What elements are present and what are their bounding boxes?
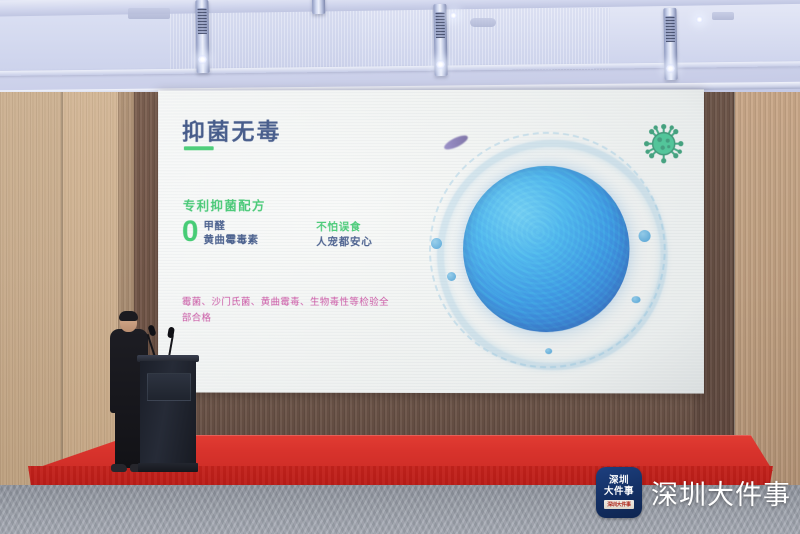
podium-base: [138, 463, 198, 472]
safety-claim-blue: 人宠都安心: [316, 235, 372, 250]
podium: [140, 355, 196, 473]
splash-droplet-4: [632, 296, 641, 303]
ceiling-vent-2: [470, 18, 496, 27]
wall-panel-6: [735, 92, 800, 492]
ceiling-panel-right: [610, 0, 800, 68]
fixture-grille-icon: [198, 8, 207, 34]
ceiling-downlight-3: [666, 64, 675, 73]
zero-value: 0: [182, 218, 199, 246]
splash-droplet-1: [431, 238, 442, 249]
ceiling-downlight-5: [696, 16, 703, 23]
wall-seam-1: [61, 92, 63, 492]
watermark-text: 深圳大件事: [651, 473, 791, 512]
ceiling-mesh-panel: [170, 8, 610, 70]
slide-subtitle: 专利抑菌配方: [183, 195, 266, 214]
watermark-logo-line-1: 深圳: [609, 476, 629, 486]
ceiling-vent-1: [128, 8, 170, 19]
speaker-shoe-left: [111, 464, 127, 472]
splash-droplet-2: [447, 272, 456, 281]
fixture-grille-icon: [436, 12, 445, 38]
zero-label-2: 黄曲霉毒素: [203, 234, 258, 248]
ceiling: [0, 0, 800, 96]
speaker-hair: [119, 311, 138, 321]
sphere-edge-shading: [463, 166, 629, 332]
ceiling-downlight-4: [450, 12, 457, 19]
projection-screen: 抑菌无毒 专利抑菌配方 0 甲醛 黄曲霉毒素 不怕误食 人宠都安心 霉菌、沙门氏…: [158, 89, 704, 393]
wall-panel-1: [0, 92, 62, 492]
ceiling-light-fixture-4: [312, 0, 326, 14]
certification-note: 霉菌、沙门氏菌、黄曲霉毒、生物毒性等检验全部合格: [182, 295, 391, 326]
ceiling-downlight-2: [436, 60, 445, 69]
virus-icon: [644, 124, 684, 164]
ceiling-vent-3: [712, 12, 734, 20]
slide-title: 抑菌无毒: [182, 112, 281, 146]
speaker-legs: [115, 410, 143, 468]
zero-label-group: 甲醛 黄曲霉毒素: [203, 218, 258, 248]
safety-claim-block: 不怕误食 人宠都安心: [316, 220, 372, 249]
ceiling-downlight-1: [198, 55, 207, 64]
watermark: 深圳 大件事 深圳大件事 深圳大件事: [596, 467, 791, 518]
watermark-logo-line-2: 大件事: [604, 487, 634, 497]
splash-droplet-5: [545, 348, 552, 354]
podium-front-panel: [147, 373, 191, 401]
title-underline-accent: [184, 146, 214, 150]
bacterium-icon: [442, 133, 469, 153]
watermark-logo-stamp: 深圳大件事: [604, 500, 634, 509]
fixture-grille-icon: [666, 16, 675, 42]
zero-label-1: 甲醛: [203, 220, 258, 234]
blue-sphere: [463, 166, 629, 332]
watermark-logo-icon: 深圳 大件事 深圳大件事: [596, 467, 642, 518]
podium-body: [140, 361, 196, 465]
splash-droplet-3: [639, 230, 651, 242]
safety-claim-green: 不怕误食: [316, 220, 372, 235]
zero-claim-block: 0 甲醛 黄曲霉毒素: [182, 218, 259, 248]
slide-artwork: [425, 120, 686, 376]
presentation-photo-scene: 抑菌无毒 专利抑菌配方 0 甲醛 黄曲霉毒素 不怕误食 人宠都安心 霉菌、沙门氏…: [0, 0, 800, 534]
